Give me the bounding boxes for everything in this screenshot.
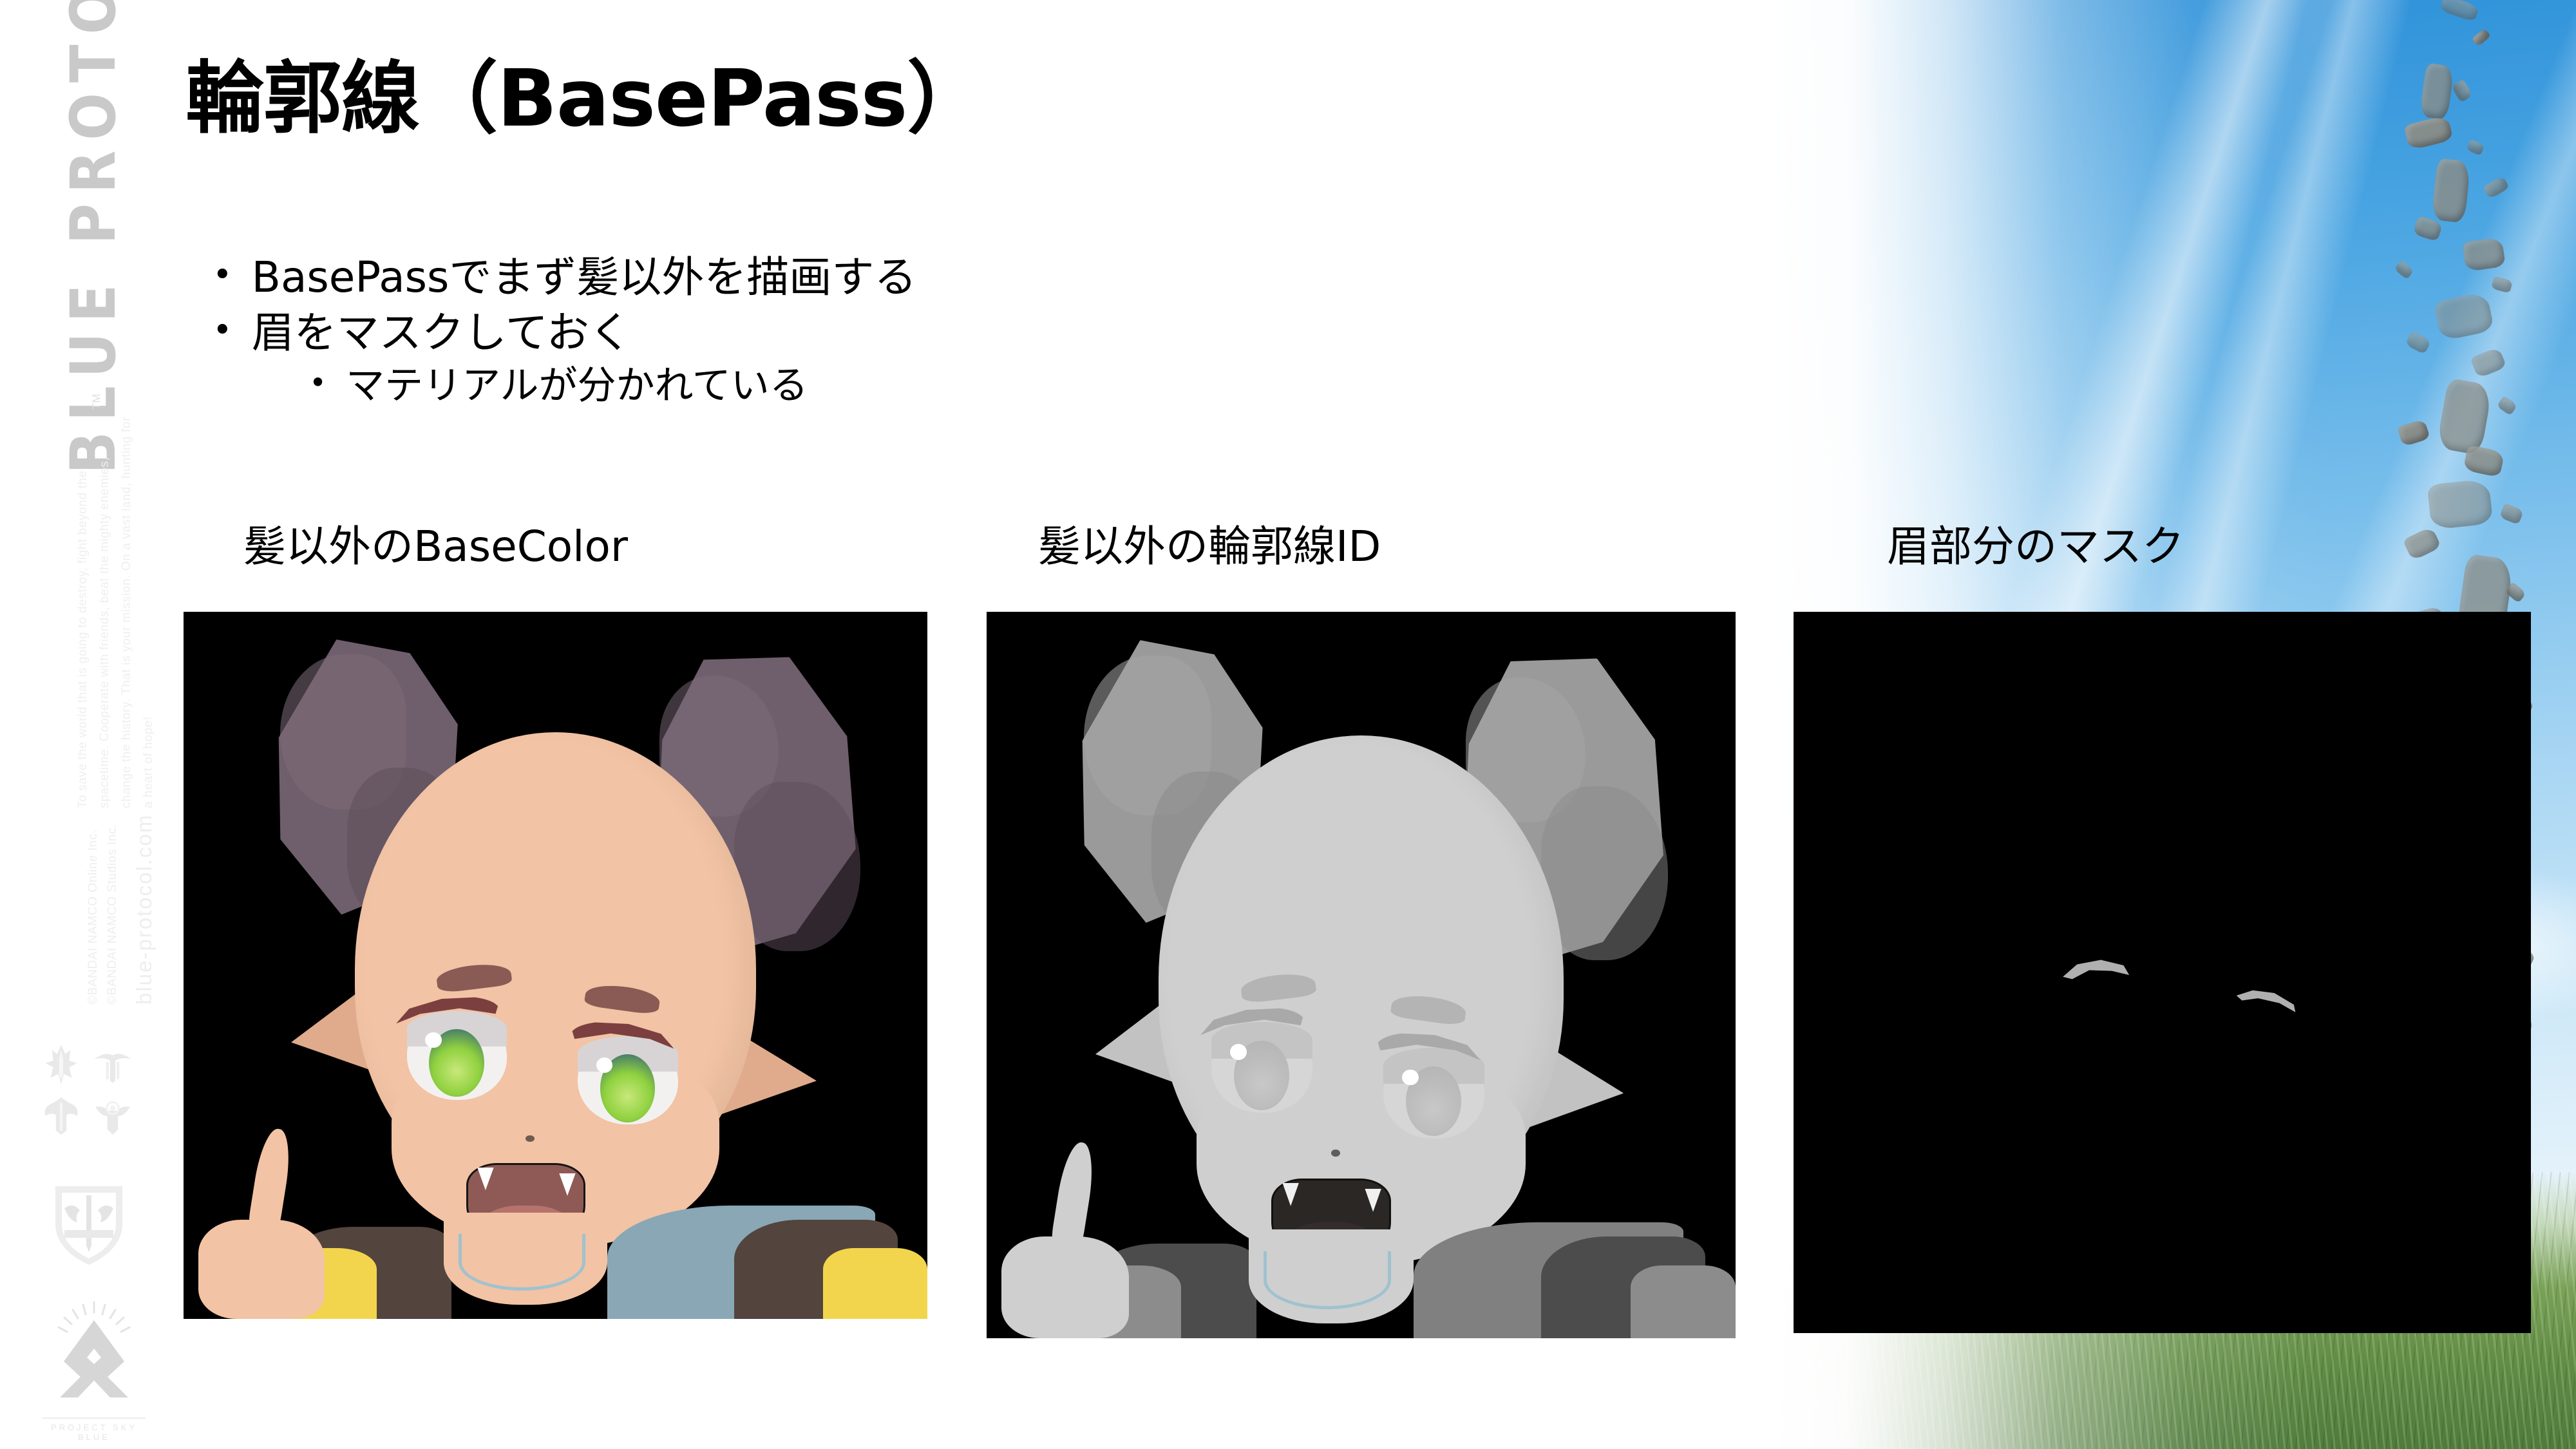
- bullet-text: 眉をマスクしておく: [252, 305, 632, 361]
- list-item: • 眉をマスクしておく: [213, 305, 1694, 361]
- eyebrow-mask-right: [2235, 987, 2298, 1015]
- base-color-render-panel: [184, 612, 927, 1319]
- character-render: [987, 612, 1736, 1338]
- trademark-mark: TM: [90, 393, 103, 410]
- caption-eyebrow-mask: 眉部分のマスク: [1887, 512, 2184, 574]
- page-title: 輪郭線（BasePass）: [185, 35, 985, 149]
- caption-outline-id: 髪以外の輪郭線ID: [1038, 512, 1381, 574]
- shirt-yellow-right: [1631, 1265, 1736, 1338]
- heraldic-crest-icon: [50, 1179, 128, 1269]
- bullet-marker: •: [213, 305, 232, 355]
- sky-blue-mark-icon: [46, 1301, 142, 1410]
- eyebrow-mask-shapes: [1794, 612, 2531, 1333]
- bullet-marker: •: [309, 361, 327, 405]
- character-render: [184, 612, 927, 1319]
- brand-website-url: blue-protocol.com: [132, 773, 156, 1005]
- eyebrow-mask-left: [2062, 958, 2129, 987]
- panel-captions: 髪以外のBaseColor 髪以外の輪郭線ID 眉部分のマスク: [0, 512, 2576, 583]
- outline-id-render-panel: [987, 612, 1736, 1338]
- eye-highlight-left: [1230, 1044, 1247, 1060]
- necklace: [459, 1234, 585, 1291]
- shirt-yellow-right: [823, 1248, 927, 1319]
- project-sky-blue-caption: PROJECT SKY BLUE: [43, 1417, 146, 1442]
- brand-tagline: To save the world that is going to destr…: [72, 415, 160, 808]
- list-item: • マテリアルが分かれている: [309, 361, 1694, 411]
- bullet-text: BasePassでまず髪以外を描画する: [252, 250, 917, 305]
- bullet-text: マテリアルが分かれている: [346, 361, 808, 411]
- axe-icon: [40, 1094, 82, 1136]
- necklace: [1264, 1251, 1391, 1309]
- class-icon-group: [40, 1043, 143, 1144]
- nose: [1331, 1150, 1340, 1157]
- project-sky-blue-logo: PROJECT SKY BLUE: [43, 1301, 146, 1442]
- eye-highlight-right: [596, 1057, 612, 1073]
- eyebrow-mask-render-panel: [1794, 612, 2531, 1333]
- bullet-list: • BasePassでまず髪以外を描画する • 眉をマスクしておく • マテリア…: [213, 250, 1694, 411]
- staff-icon: [91, 1094, 134, 1136]
- brand-sidebar: BLUE PROTOCOL TM To save the world that …: [0, 0, 174, 1449]
- list-item: • BasePassでまず髪以外を描画する: [213, 250, 1694, 305]
- caption-base-color: 髪以外のBaseColor: [243, 512, 628, 574]
- bullet-marker: •: [213, 250, 232, 300]
- brand-copyright: ©BANDAI NAMCO Online Inc. ©BANDAI NAMCO …: [84, 773, 122, 1005]
- sword-icon: [40, 1043, 82, 1086]
- bow-right-shadow: [734, 782, 860, 952]
- bow-icon: [91, 1043, 134, 1086]
